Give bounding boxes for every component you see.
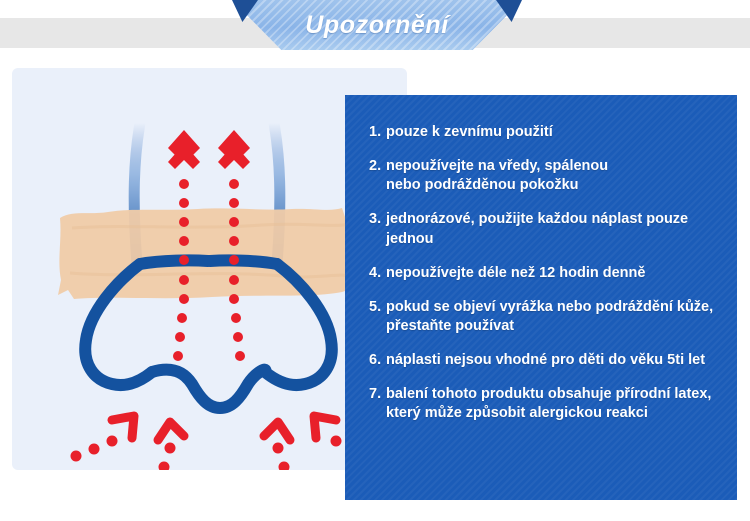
banner-title: Upozornění: [232, 0, 522, 50]
list-item-text: nepoužívejte déle než 12 hodin denně: [386, 264, 725, 283]
list-item: 6. náplasti nejsou vhodné pro děti do vě…: [369, 351, 725, 370]
list-item-number: 5.: [369, 298, 386, 317]
list-item: 4. nepoužívejte déle než 12 hodin denně: [369, 264, 725, 283]
list-item: 5. pokud se objeví vyrážka nebo podráždě…: [369, 298, 725, 336]
airflow-arrows-in-icon: [112, 416, 336, 440]
nasal-strip-icon: [58, 208, 359, 299]
list-item: 2. nepoužívejte na vředy, spálenou nebo …: [369, 157, 725, 195]
list-item-number: 7.: [369, 385, 386, 404]
list-item-number: 1.: [369, 123, 386, 142]
list-item-text: nepoužívejte na vředy, spálenou nebo pod…: [386, 157, 725, 195]
list-item: 1. pouze k zevnímu použití: [369, 123, 725, 142]
list-item-text: pokud se objeví vyrážka nebo podráždění …: [386, 298, 725, 336]
banner: Upozornění: [232, 0, 522, 50]
list-item-number: 3.: [369, 210, 386, 229]
instructions-list: 1. pouze k zevnímu použití 2. nepoužívej…: [369, 123, 725, 438]
list-item: 7. balení tohoto produktu obsahuje příro…: [369, 385, 725, 423]
list-item-text: jednorázové, použijte každou náplast pou…: [386, 210, 725, 248]
list-item-number: 4.: [369, 264, 386, 283]
list-item-number: 6.: [369, 351, 386, 370]
list-item-text: balení tohoto produktu obsahuje přírodní…: [386, 385, 725, 423]
list-item: 3. jednorázové, použijte každou náplast …: [369, 210, 725, 248]
list-item-text: pouze k zevnímu použití: [386, 123, 725, 142]
instructions-panel: 1. pouze k zevnímu použití 2. nepoužívej…: [345, 95, 737, 500]
list-item-text: náplasti nejsou vhodné pro děti do věku …: [386, 351, 725, 370]
list-item-number: 2.: [369, 157, 386, 176]
airflow-dots-lower-icon: [71, 436, 378, 471]
